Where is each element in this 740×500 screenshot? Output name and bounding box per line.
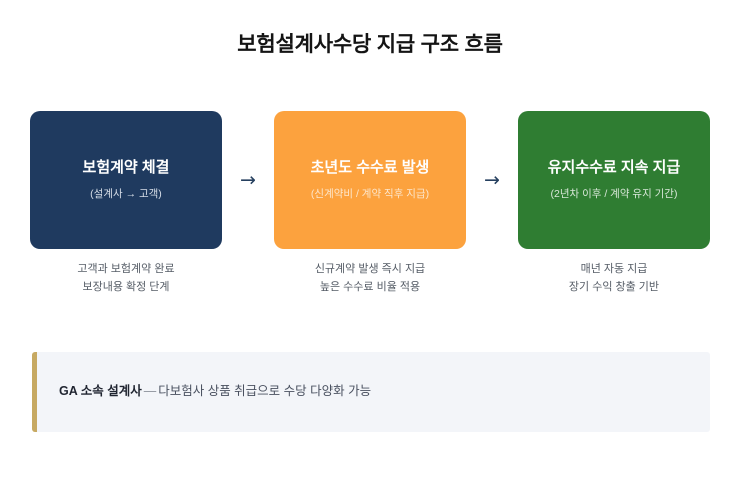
note-callout: GA 소속 설계사—다보험사 상품 취급으로 수당 다양화 가능 — [32, 352, 710, 432]
stage-subtitle-contract: (설계사 → 고객) — [90, 187, 162, 202]
stage-subtitle-first-year-commission: (신계약비 / 계약 직후 지급) — [311, 187, 429, 202]
note-dash: — — [142, 384, 159, 398]
stage-title-first-year-commission: 초년도 수수료 발생 — [311, 158, 430, 178]
caption-first-year-commission-line1: 신규계약 발생 즉시 지급 — [274, 260, 466, 278]
stage-title-maintenance-commission: 유지수수료 지속 지급 — [548, 158, 681, 178]
caption-row: 고객과 보험계약 완료 보장내용 확정 단계 신규계약 발생 즉시 지급 높은 … — [30, 260, 710, 304]
stage-box-maintenance-commission: 유지수수료 지속 지급 (2년차 이후 / 계약 유지 기간) — [518, 111, 710, 249]
stage-subtitle-maintenance-commission: (2년차 이후 / 계약 유지 기간) — [551, 187, 678, 202]
arrow-right-icon-2: → — [473, 111, 511, 249]
diagram-page: 보험설계사수당 지급 구조 흐름 보험계약 체결 (설계사 → 고객) → 초년… — [0, 0, 740, 500]
caption-first-year-commission: 신규계약 발생 즉시 지급 높은 수수료 비율 적용 — [274, 260, 466, 296]
caption-maintenance-commission: 매년 자동 지급 장기 수익 창출 기반 — [518, 260, 710, 296]
note-text: GA 소속 설계사—다보험사 상품 취급으로 수당 다양화 가능 — [59, 383, 371, 401]
arrow-right-icon-1: → — [229, 111, 267, 249]
caption-contract-line1: 고객과 보험계약 완료 — [30, 260, 222, 278]
stage-box-contract: 보험계약 체결 (설계사 → 고객) — [30, 111, 222, 249]
stage-box-first-year-commission: 초년도 수수료 발생 (신계약비 / 계약 직후 지급) — [274, 111, 466, 249]
stage-title-contract: 보험계약 체결 — [83, 158, 170, 178]
flow-row: 보험계약 체결 (설계사 → 고객) → 초년도 수수료 발생 (신계약비 / … — [30, 111, 710, 249]
caption-contract-line2: 보장내용 확정 단계 — [30, 278, 222, 296]
note-body: 다보험사 상품 취급으로 수당 다양화 가능 — [158, 384, 371, 398]
caption-contract: 고객과 보험계약 완료 보장내용 확정 단계 — [30, 260, 222, 296]
note-label: GA 소속 설계사 — [59, 384, 142, 398]
caption-first-year-commission-line2: 높은 수수료 비율 적용 — [274, 278, 466, 296]
caption-maintenance-commission-line1: 매년 자동 지급 — [518, 260, 710, 278]
caption-maintenance-commission-line2: 장기 수익 창출 기반 — [518, 278, 710, 296]
page-title: 보험설계사수당 지급 구조 흐름 — [0, 28, 740, 58]
